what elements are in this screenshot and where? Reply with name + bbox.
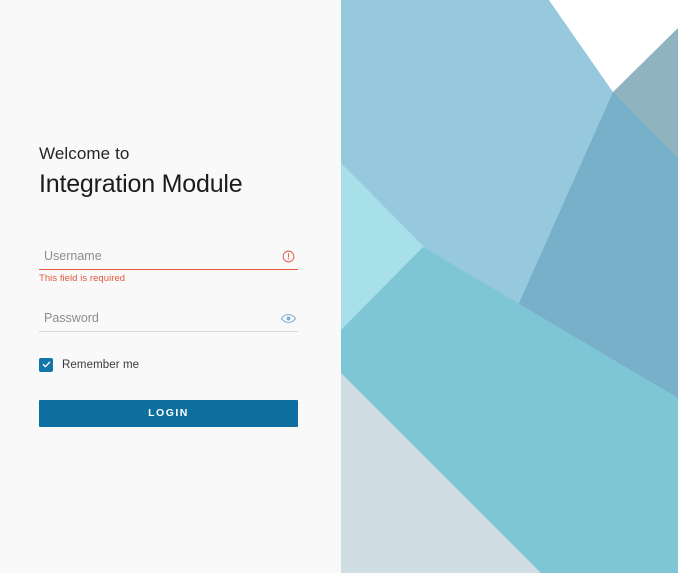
geometric-triangles-graphic bbox=[341, 0, 678, 573]
checkmark-icon bbox=[42, 360, 51, 369]
username-input[interactable] bbox=[39, 250, 298, 269]
password-field-group bbox=[39, 309, 298, 332]
login-button[interactable]: LOGIN bbox=[39, 400, 298, 427]
login-form-container: Welcome to Integration Module This field bbox=[39, 143, 298, 427]
username-underline bbox=[39, 269, 298, 271]
username-error-message: This field is required bbox=[39, 273, 298, 285]
login-panel: Welcome to Integration Module This field bbox=[0, 0, 341, 573]
remember-me-label: Remember me bbox=[62, 359, 139, 371]
password-underline bbox=[39, 331, 298, 332]
error-circle-icon bbox=[278, 247, 298, 266]
login-page: Welcome to Integration Module This field bbox=[0, 0, 678, 573]
decorative-graphic-panel bbox=[341, 0, 678, 573]
field-spacer bbox=[39, 285, 298, 309]
username-field-group: This field is required bbox=[39, 247, 298, 285]
remember-me-row[interactable]: Remember me bbox=[39, 358, 298, 372]
password-input[interactable] bbox=[39, 312, 298, 331]
welcome-text: Welcome to bbox=[39, 143, 298, 165]
page-title: Integration Module bbox=[39, 167, 298, 201]
remember-me-checkbox[interactable] bbox=[39, 358, 53, 372]
login-form: This field is required bbox=[39, 247, 298, 427]
eye-icon[interactable] bbox=[278, 309, 298, 328]
